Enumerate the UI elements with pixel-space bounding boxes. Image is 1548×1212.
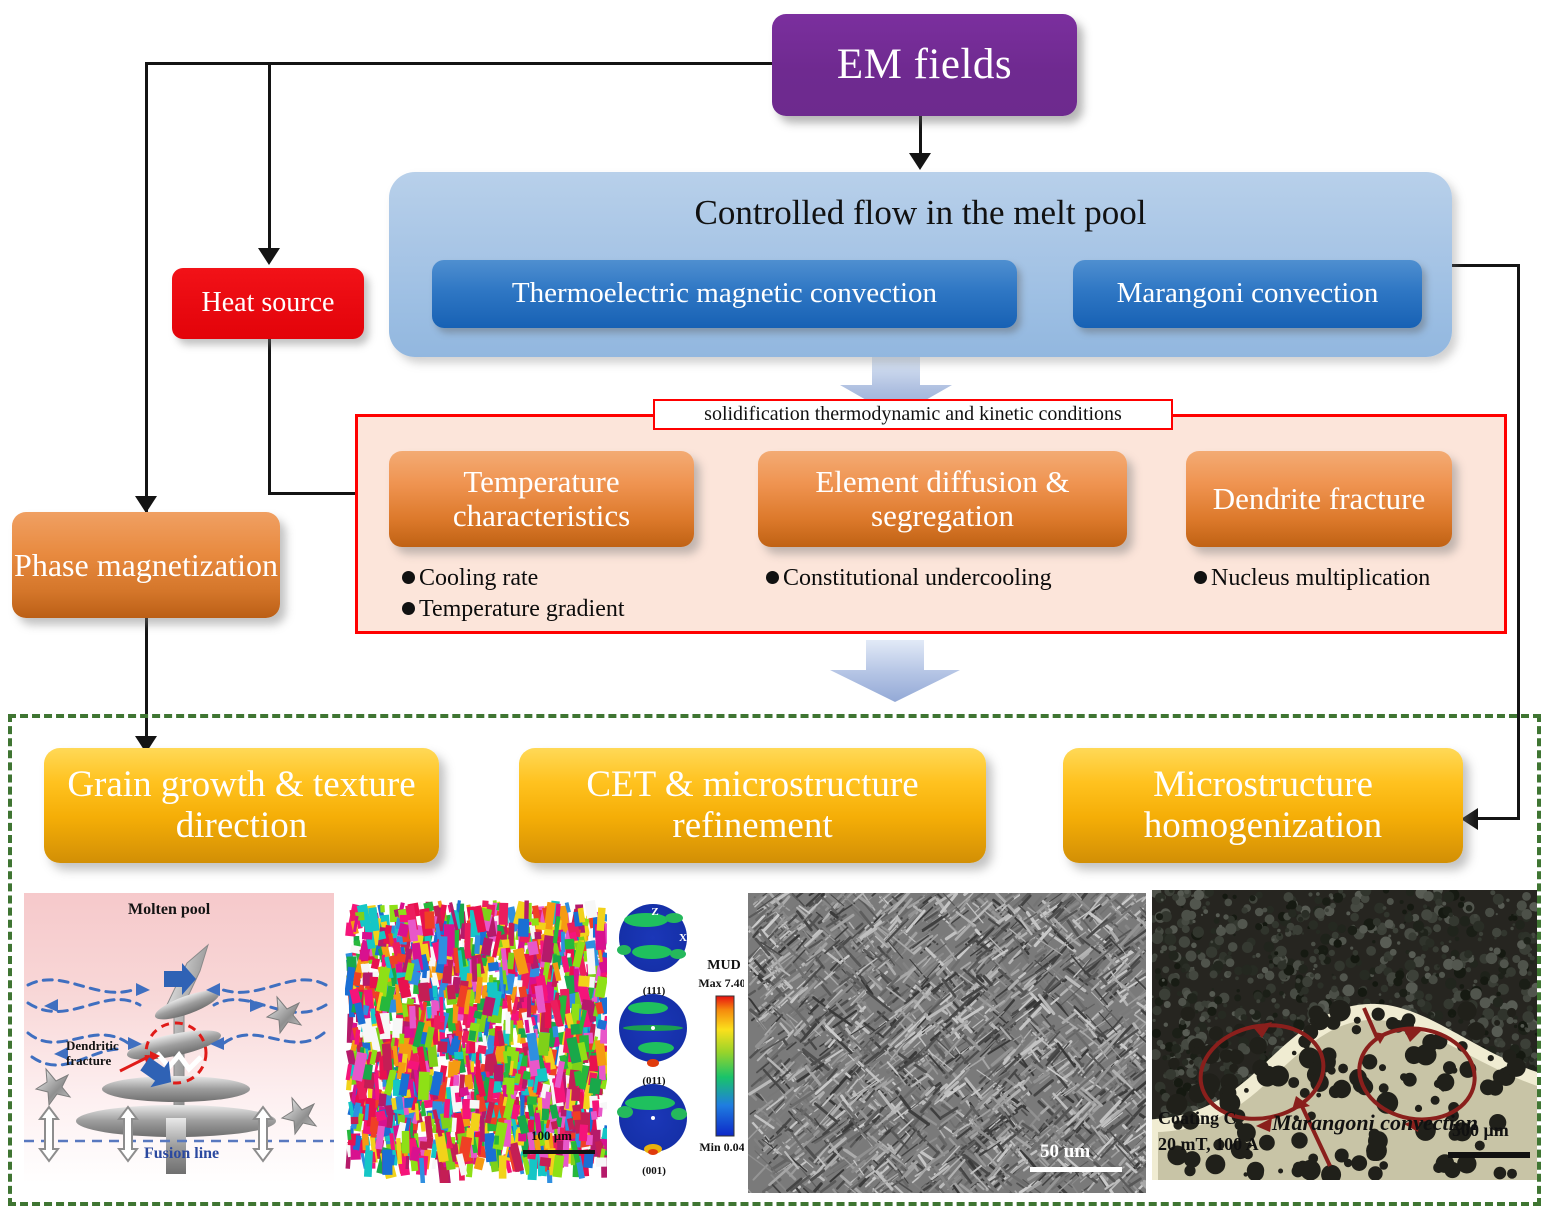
pole-figure-label-011: (011) bbox=[636, 1075, 672, 1087]
label-fusion-line: Fusion line bbox=[144, 1145, 219, 1163]
bead-scale-label: 500 μm bbox=[1452, 1120, 1509, 1141]
label-molten-pool: Molten pool bbox=[128, 901, 210, 919]
list-item-label: Constitutional undercooling bbox=[783, 565, 1052, 591]
node-thermoelectric-magnetic-convection[interactable]: Thermoelectric magnetic convection bbox=[432, 260, 1017, 328]
node-controlled-flow-panel[interactable]: Controlled flow in the melt pool Thermoe… bbox=[389, 172, 1452, 357]
ebsd-scale-bar bbox=[523, 1150, 595, 1154]
sem-scale-bar bbox=[1030, 1167, 1122, 1172]
connector-heat-right bbox=[268, 492, 368, 495]
connector-em-to-heat bbox=[268, 62, 271, 252]
mud-legend-max: Max 7.40 bbox=[696, 976, 744, 991]
bullet-dot-icon bbox=[402, 602, 415, 615]
ebsd-scale-label: 100 μm bbox=[531, 1128, 572, 1144]
pole-figure-axis-z: Z bbox=[648, 906, 662, 918]
node-grain-growth-label: Grain growth & texture direction bbox=[44, 765, 439, 846]
bullet-dot-icon bbox=[402, 571, 415, 584]
node-temperature-characteristics-label: Temperature characteristics bbox=[389, 465, 694, 533]
mud-legend-min: Min 0.04 bbox=[696, 1140, 744, 1155]
pole-figure-label-001: (001) bbox=[636, 1165, 672, 1177]
connector-heat-down bbox=[268, 339, 271, 494]
block-arrow-solidification-to-outcomes bbox=[822, 640, 968, 702]
list-item: Nucleus multiplication bbox=[1194, 563, 1430, 594]
mud-legend-title: MUD bbox=[700, 958, 744, 974]
pole-figure-label-111: (111) bbox=[636, 985, 672, 997]
node-heat-source[interactable]: Heat source bbox=[172, 268, 364, 339]
controlled-flow-title: Controlled flow in the melt pool bbox=[389, 194, 1452, 232]
figure-ebsd-ipf-map: 100 μm bbox=[345, 900, 607, 1183]
arrowhead-em-to-phase bbox=[135, 496, 157, 513]
list-item: Cooling rate bbox=[402, 563, 625, 594]
arrowhead-em-to-heat bbox=[258, 248, 280, 265]
node-microstructure-homogenization[interactable]: Microstructure homogenization bbox=[1063, 748, 1463, 863]
node-marangoni-convection[interactable]: Marangoni convection bbox=[1073, 260, 1422, 328]
node-cet-label: CET & microstructure refinement bbox=[519, 765, 986, 846]
connector-flow-right bbox=[1452, 264, 1520, 267]
node-dendrite-fracture-label: Dendrite fracture bbox=[1213, 482, 1426, 516]
node-grain-growth-texture-direction[interactable]: Grain growth & texture direction bbox=[44, 748, 439, 863]
node-element-diffusion-segregation-label: Element diffusion & segregation bbox=[758, 465, 1127, 533]
marangoni-convection-label: Marangoni convection bbox=[1117, 278, 1379, 309]
connector-em-to-phase bbox=[145, 62, 148, 514]
label-solidification-conditions: solidification thermodynamic and kinetic… bbox=[653, 399, 1173, 430]
bullet-dot-icon bbox=[766, 571, 779, 584]
arrowhead-em-to-flow bbox=[909, 153, 931, 170]
node-em-fields[interactable]: EM fields bbox=[772, 14, 1077, 116]
bullets-element-diffusion: Constitutional undercooling bbox=[766, 563, 1052, 594]
pole-figure-axis-x: X bbox=[676, 932, 690, 944]
sem-scale-label: 50 um bbox=[1040, 1141, 1090, 1163]
bead-coating-label: Coating C bbox=[1158, 1108, 1237, 1129]
thermoelectric-magnetic-convection-label: Thermoelectric magnetic convection bbox=[512, 278, 937, 309]
bullets-dendrite-fracture: Nucleus multiplication bbox=[1194, 563, 1430, 594]
node-cet-microstructure-refinement[interactable]: CET & microstructure refinement bbox=[519, 748, 986, 863]
node-microstructure-homogenization-label: Microstructure homogenization bbox=[1063, 765, 1463, 846]
bead-scale-bar bbox=[1448, 1152, 1530, 1158]
list-item-label: Cooling rate bbox=[419, 565, 538, 591]
connector-em-to-flow bbox=[919, 116, 922, 156]
connector-em-left-bus bbox=[145, 62, 780, 65]
figure-sem-microstructure: 50 um bbox=[748, 893, 1146, 1193]
bead-parameters-label: 20 mT, 100 A bbox=[1158, 1134, 1259, 1155]
node-phase-magnetization-label: Phase magnetization bbox=[14, 548, 278, 583]
node-heat-source-label: Heat source bbox=[202, 288, 335, 318]
node-em-fields-label: EM fields bbox=[837, 42, 1012, 88]
list-item-label: Nucleus multiplication bbox=[1211, 565, 1430, 591]
label-dendritic-fracture: Dendritic fracture bbox=[66, 1039, 126, 1069]
bead-annotation-label: Marangoni convection bbox=[1272, 1110, 1478, 1136]
node-element-diffusion-segregation[interactable]: Element diffusion & segregation bbox=[758, 451, 1127, 547]
figure-dendrite-fracture-schematic: Molten pool Dendritic fracture Fusion li… bbox=[24, 893, 334, 1183]
diagram-canvas: EM fields Controlled flow in the melt po… bbox=[0, 0, 1548, 1212]
list-item: Temperature gradient bbox=[402, 594, 625, 625]
node-phase-magnetization[interactable]: Phase magnetization bbox=[12, 512, 280, 618]
bullet-dot-icon bbox=[1194, 571, 1207, 584]
node-temperature-characteristics[interactable]: Temperature characteristics bbox=[389, 451, 694, 547]
figure-weld-bead-cross-section: Coating C 20 mT, 100 A Marangoni convect… bbox=[1152, 890, 1537, 1180]
list-item: Constitutional undercooling bbox=[766, 563, 1052, 594]
node-dendrite-fracture[interactable]: Dendrite fracture bbox=[1186, 451, 1452, 547]
list-item-label: Temperature gradient bbox=[419, 596, 625, 622]
figure-pole-figures: (111) (011) (001) Z X MUD Max 7.40 Min 0… bbox=[616, 900, 744, 1183]
bullets-temperature-characteristics: Cooling rate Temperature gradient bbox=[402, 563, 625, 624]
